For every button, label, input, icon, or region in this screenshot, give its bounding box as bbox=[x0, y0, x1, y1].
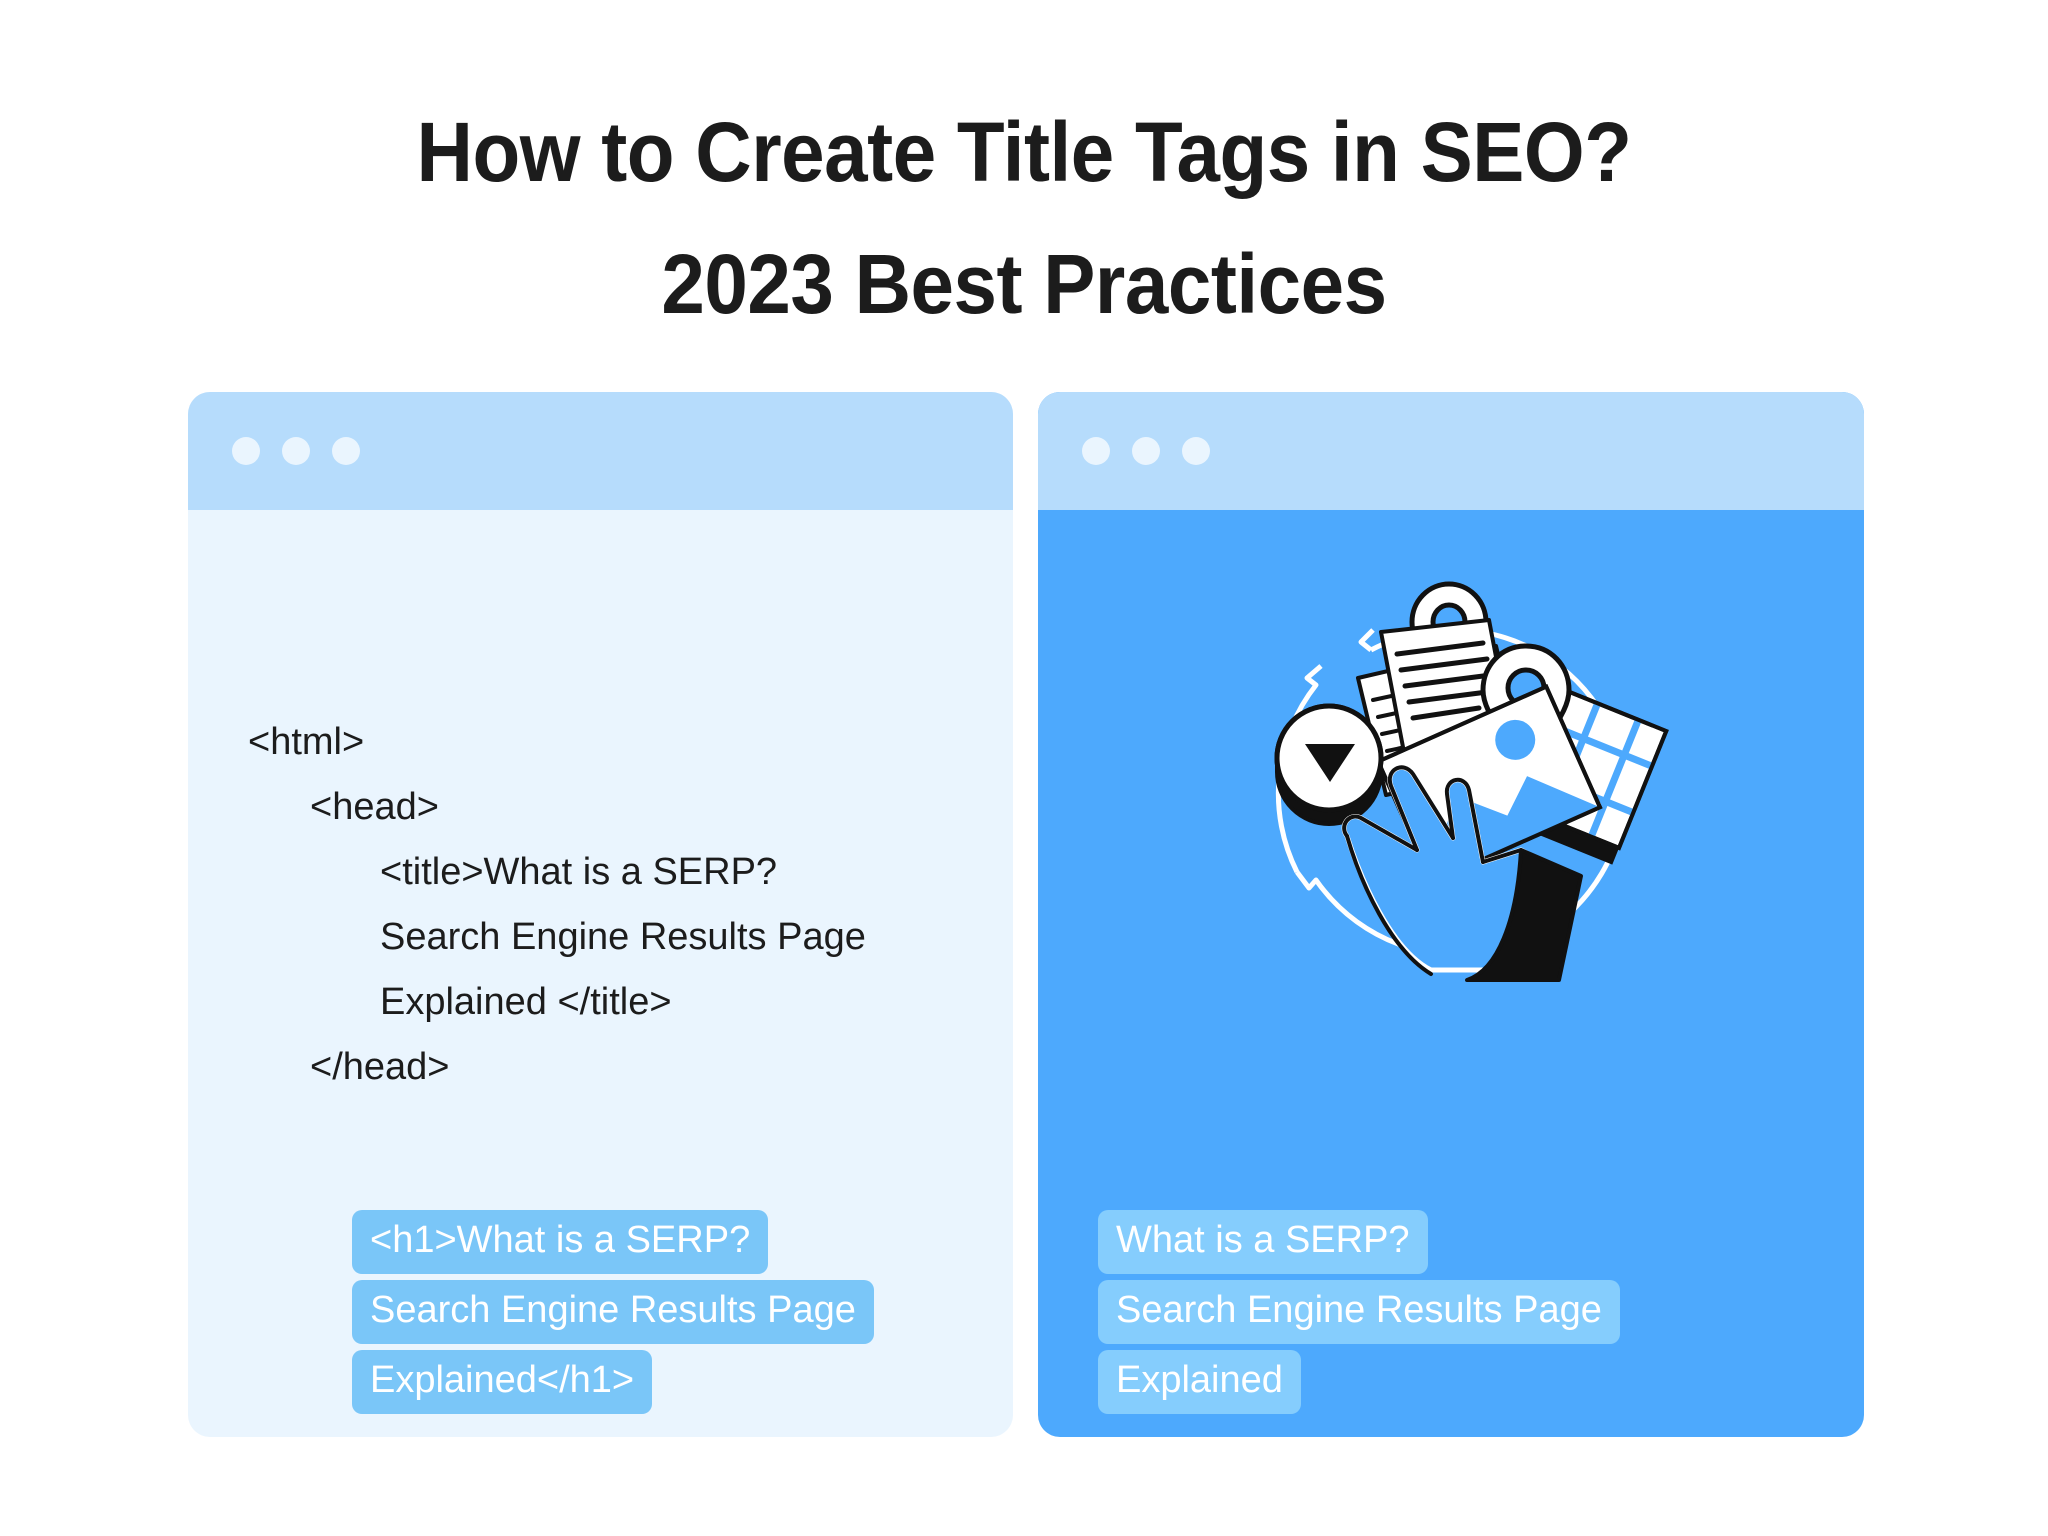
rendered-heading-chip: Explained bbox=[1098, 1350, 1301, 1414]
window-dot-maximize-icon[interactable] bbox=[332, 437, 360, 465]
html-code-snippet: <html> <head> <title>What is a SERP? Sea… bbox=[248, 710, 968, 1100]
window-dot-minimize-icon[interactable] bbox=[282, 437, 310, 465]
window-dot-close-icon[interactable] bbox=[232, 437, 260, 465]
h1-highlight-group: <h1>What is a SERP? Search Engine Result… bbox=[188, 1210, 1013, 1420]
rendered-heading-chip: What is a SERP? bbox=[1098, 1210, 1428, 1274]
rendered-heading-chip: Search Engine Results Page bbox=[1098, 1280, 1620, 1344]
code-line: Explained </title> bbox=[248, 970, 968, 1035]
code-line: <title>What is a SERP? bbox=[248, 840, 968, 905]
rendered-page-body: What is a SERP? Search Engine Results Pa… bbox=[1038, 510, 1864, 1437]
code-line: Search Engine Results Page bbox=[248, 905, 968, 970]
page-title-line-2: 2023 Best Practices bbox=[72, 218, 1977, 350]
page-title: How to Create Title Tags in SEO? 2023 Be… bbox=[0, 86, 2048, 350]
rendered-heading-group: What is a SERP? Search Engine Results Pa… bbox=[1038, 1210, 1864, 1420]
h1-highlight-chip: Search Engine Results Page bbox=[352, 1280, 874, 1344]
h1-highlight-chip: Explained</h1> bbox=[352, 1350, 652, 1414]
rendered-page-panel: What is a SERP? Search Engine Results Pa… bbox=[1038, 392, 1864, 1437]
window-titlebar-left bbox=[188, 392, 1013, 510]
code-window-body: <html> <head> <title>What is a SERP? Sea… bbox=[188, 510, 1013, 1437]
hand-holding-documents-map-illustration bbox=[1221, 550, 1681, 1010]
page-title-line-1: How to Create Title Tags in SEO? bbox=[72, 86, 1977, 218]
window-dot-close-icon[interactable] bbox=[1082, 437, 1110, 465]
window-dot-minimize-icon[interactable] bbox=[1132, 437, 1160, 465]
window-dot-maximize-icon[interactable] bbox=[1182, 437, 1210, 465]
h1-highlight-chip: <h1>What is a SERP? bbox=[352, 1210, 768, 1274]
code-line: <html> bbox=[248, 710, 968, 775]
code-line: <head> bbox=[248, 775, 968, 840]
code-line: </head> bbox=[248, 1035, 968, 1100]
code-window-panel: <html> <head> <title>What is a SERP? Sea… bbox=[188, 392, 1013, 1437]
window-titlebar-right bbox=[1038, 392, 1864, 510]
